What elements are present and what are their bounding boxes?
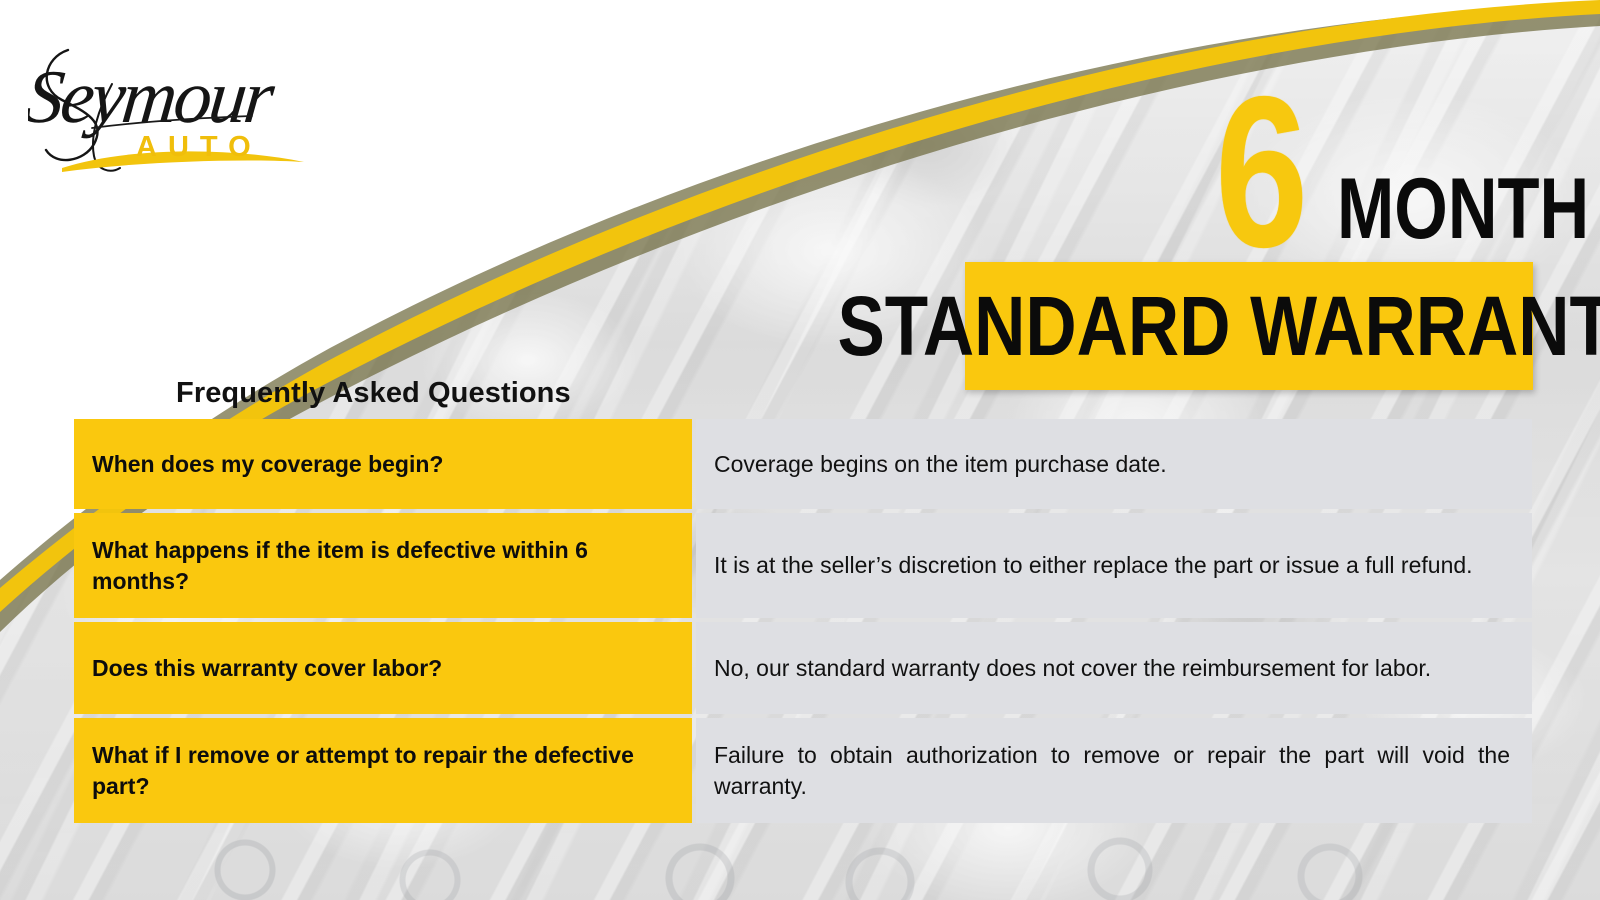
warranty-duration-number: 6 — [1215, 64, 1304, 279]
faq-answer-cell: Failure to obtain authorization to remov… — [696, 718, 1532, 823]
faq-heading: Frequently Asked Questions — [176, 377, 571, 410]
table-row: When does my coverage begin? Coverage be… — [74, 419, 1532, 509]
faq-table: When does my coverage begin? Coverage be… — [74, 419, 1532, 823]
faq-question-cell: Does this warranty cover labor? — [74, 622, 692, 714]
faq-question-cell: What happens if the item is defective wi… — [74, 513, 692, 618]
warranty-duration-unit: MONTH — [1337, 166, 1589, 252]
seymour-auto-logo[interactable]: Seymour AUTO — [28, 22, 338, 182]
table-row: What happens if the item is defective wi… — [74, 513, 1532, 618]
standard-warranty-banner: STANDARD WARRANTY — [965, 262, 1533, 390]
faq-answer-cell: Coverage begins on the item purchase dat… — [696, 419, 1532, 509]
logo-subtext: AUTO — [136, 131, 262, 163]
faq-question-cell: When does my coverage begin? — [74, 419, 692, 509]
warranty-duration-block: 6 MONTH — [1215, 78, 1535, 253]
standard-warranty-banner-text: STANDARD WARRANTY — [838, 284, 1600, 368]
faq-answer-cell: No, our standard warranty does not cover… — [696, 622, 1532, 714]
faq-answer-cell: It is at the seller’s discretion to eith… — [696, 513, 1532, 618]
svg-text:Seymour: Seymour — [28, 55, 279, 139]
table-row: Does this warranty cover labor? No, our … — [74, 622, 1532, 714]
faq-question-cell: What if I remove or attempt to repair th… — [74, 718, 692, 823]
warranty-slide: Seymour AUTO 6 MONTH STANDARD WARRANTY F… — [0, 0, 1600, 900]
table-row: What if I remove or attempt to repair th… — [74, 718, 1532, 823]
